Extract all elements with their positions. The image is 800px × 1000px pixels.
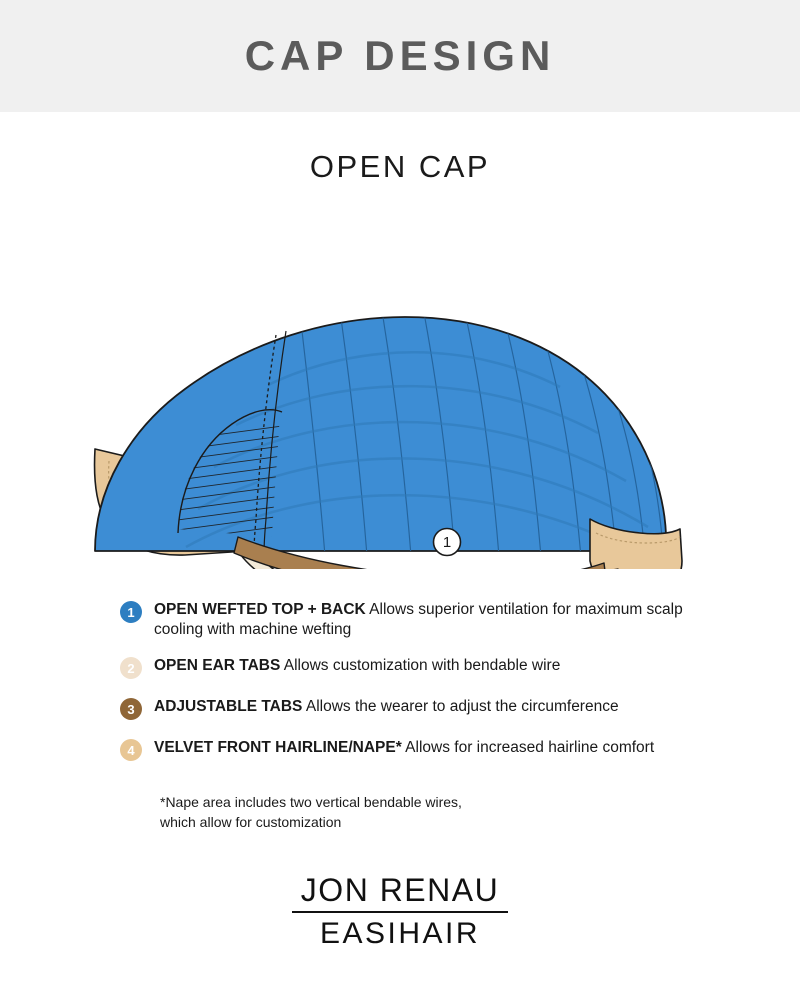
brand-name-secondary: EASIHAIR — [0, 917, 800, 951]
page-header: CAP DESIGN — [0, 0, 800, 112]
legend-title-2: OPEN EAR TABS — [154, 657, 280, 674]
legend-text-1: OPEN WEFTED TOP + BACK Allows superior v… — [154, 600, 714, 640]
legend-text-3: ADJUSTABLE TABS Allows the wearer to adj… — [154, 697, 619, 717]
legend-item-2: 2 OPEN EAR TABS Allows customization wit… — [120, 656, 720, 679]
legend-desc-2: Allows customization with bendable wire — [280, 657, 560, 674]
legend-badge-3: 3 — [120, 698, 142, 720]
legend-title-4: VELVET FRONT HAIRLINE/NAPE* — [154, 739, 402, 756]
legend-badge-1: 1 — [120, 601, 142, 623]
brand-divider — [292, 911, 508, 913]
callout-1-top-label: 1 — [443, 534, 451, 551]
page-title: CAP DESIGN — [245, 32, 556, 80]
legend-text-2: OPEN EAR TABS Allows customization with … — [154, 656, 560, 676]
cap-body-shape — [95, 311, 666, 569]
cap-diagram-svg: 1 1 2 3 4 4 — [0, 189, 800, 569]
subtitle-container: OPEN CAP — [0, 149, 800, 185]
brand-logo: JON RENAU EASIHAIR — [0, 872, 800, 951]
cap-diagram: 1 1 2 3 4 4 — [0, 189, 800, 569]
legend-title-1: OPEN WEFTED TOP + BACK — [154, 601, 366, 618]
legend-text-4: VELVET FRONT HAIRLINE/NAPE* Allows for i… — [154, 738, 654, 758]
legend-title-3: ADJUSTABLE TABS — [154, 698, 302, 715]
brand-name-primary: JON RENAU — [0, 872, 800, 908]
legend-badge-4: 4 — [120, 739, 142, 761]
legend-item-3: 3 ADJUSTABLE TABS Allows the wearer to a… — [120, 697, 720, 720]
callout-badge-top: 1 — [434, 529, 461, 556]
legend-list: 1 OPEN WEFTED TOP + BACK Allows superior… — [120, 600, 720, 777]
legend-desc-3: Allows the wearer to adjust the circumfe… — [302, 698, 618, 715]
legend-badge-2: 2 — [120, 657, 142, 679]
legend-item-4: 4 VELVET FRONT HAIRLINE/NAPE* Allows for… — [120, 738, 720, 761]
legend-item-1: 1 OPEN WEFTED TOP + BACK Allows superior… — [120, 600, 720, 640]
nape-footnote: *Nape area includes two vertical bendabl… — [160, 792, 462, 832]
legend-desc-4: Allows for increased hairline comfort — [402, 739, 654, 756]
cap-type-subtitle: OPEN CAP — [310, 149, 490, 184]
